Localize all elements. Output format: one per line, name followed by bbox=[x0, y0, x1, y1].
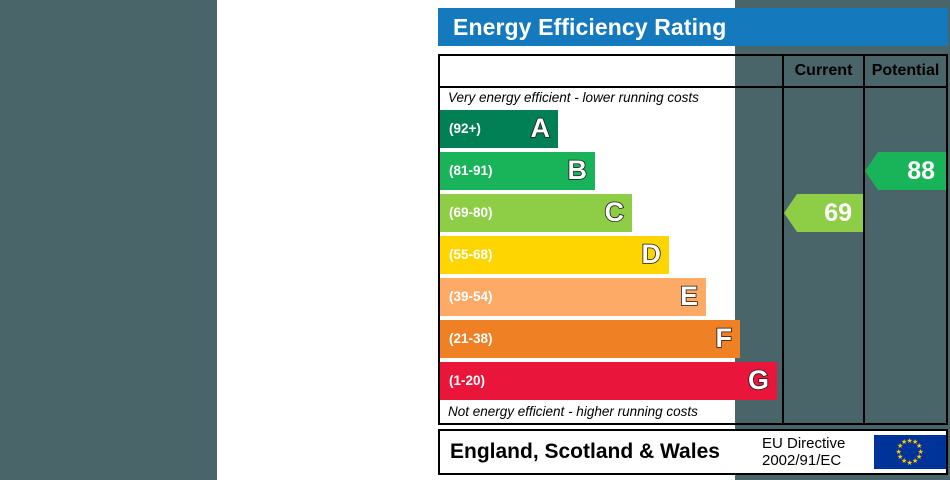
body-divider-potential bbox=[863, 88, 865, 423]
band-letter-e: E bbox=[680, 278, 698, 316]
rating-table: Current Potential Very energy efficient … bbox=[438, 54, 948, 425]
band-range-g: (1-20) bbox=[449, 362, 485, 400]
eu-flag-icon: ★★★★★★★★★★★★ bbox=[874, 435, 946, 469]
band-range-d: (55-68) bbox=[449, 236, 493, 274]
footer-directive-line2: 2002/91/EC bbox=[762, 452, 870, 469]
eu-flag-star: ★ bbox=[901, 439, 907, 446]
footer-directive-line1: EU Directive bbox=[762, 435, 870, 452]
band-letter-d: D bbox=[642, 236, 662, 274]
table-header-row: Current Potential bbox=[440, 56, 946, 88]
rating-bands: (92+)A(81-91)B(69-80)C(55-68)D(39-54)E(2… bbox=[440, 88, 782, 423]
current-rating-arrow: 69 bbox=[784, 194, 863, 232]
footer-directive-label: EU Directive 2002/91/EC bbox=[762, 435, 870, 469]
rating-band-g: (1-20)G bbox=[440, 362, 777, 400]
footer-region-label: England, Scotland & Wales bbox=[450, 431, 720, 473]
band-letter-a: A bbox=[531, 110, 551, 148]
band-range-c: (69-80) bbox=[449, 194, 493, 232]
column-header-potential: Potential bbox=[865, 56, 946, 88]
rating-band-e: (39-54)E bbox=[440, 278, 706, 316]
rating-band-f: (21-38)F bbox=[440, 320, 740, 358]
band-range-e: (39-54) bbox=[449, 278, 493, 316]
certificate-footer: England, Scotland & Wales EU Directive 2… bbox=[438, 429, 948, 475]
page-title: Energy Efficiency Rating bbox=[438, 8, 948, 46]
column-header-current: Current bbox=[784, 56, 863, 88]
rating-band-a: (92+)A bbox=[440, 110, 558, 148]
band-letter-b: B bbox=[568, 152, 588, 190]
band-letter-f: F bbox=[716, 320, 733, 358]
band-range-a: (92+) bbox=[449, 110, 481, 148]
rating-band-b: (81-91)B bbox=[440, 152, 595, 190]
band-letter-g: G bbox=[748, 362, 769, 400]
epc-certificate-panel: Energy Efficiency Rating Current Potenti… bbox=[217, 0, 735, 480]
eu-flag-star: ★ bbox=[907, 460, 913, 467]
potential-rating-arrow: 88 bbox=[865, 152, 946, 190]
rating-band-c: (69-80)C bbox=[440, 194, 632, 232]
table-body: Very energy efficient - lower running co… bbox=[440, 88, 946, 423]
band-range-b: (81-91) bbox=[449, 152, 493, 190]
band-range-f: (21-38) bbox=[449, 320, 493, 358]
rating-band-d: (55-68)D bbox=[440, 236, 669, 274]
body-divider-current bbox=[782, 88, 784, 423]
band-letter-c: C bbox=[605, 194, 625, 232]
